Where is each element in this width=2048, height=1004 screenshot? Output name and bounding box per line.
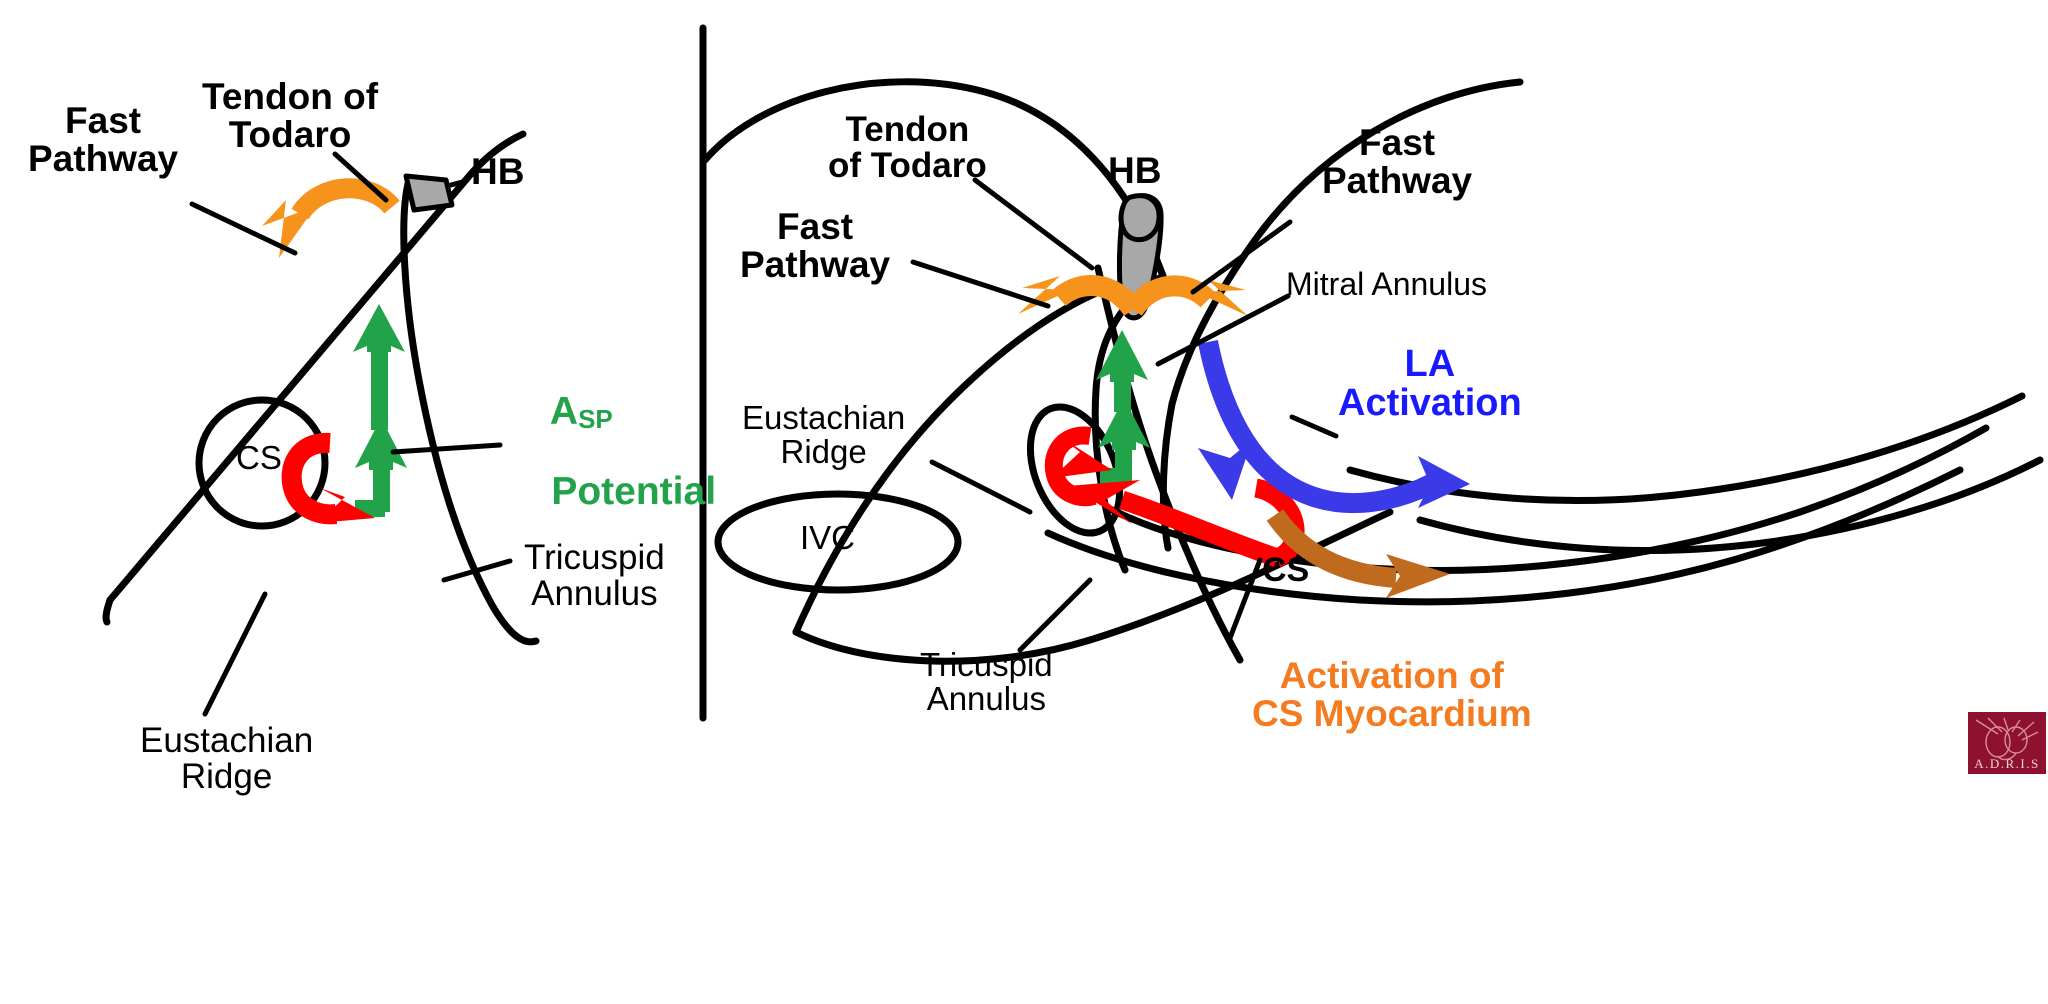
left-green-arrow-upper — [353, 304, 405, 430]
right-leader-eustachian-ridge — [932, 462, 1030, 512]
right-leader-fast-pathway-left — [913, 262, 1048, 306]
left-label-asp-potential: ASP Potential — [508, 352, 716, 552]
right-label-cs: CS — [1262, 553, 1309, 588]
adris-logo: A.D.R.I.S — [1968, 712, 2046, 774]
left-eustachian-ridge-curve — [106, 600, 110, 622]
right-label-tendon-of-todaro: Tendonof Todaro — [828, 112, 987, 183]
left-label-cs: CS — [236, 441, 282, 475]
left-leader-eustachian — [205, 594, 265, 714]
left-label-tricuspid-annulus: TricuspidAnnulus — [524, 540, 665, 611]
right-leader-la-activation — [1292, 417, 1336, 436]
figure-canvas: .ink{fill:none;stroke:#000;stroke-width:… — [0, 0, 2048, 1004]
right-label-fast-pathway-left: FastPathway — [740, 208, 890, 283]
right-label-mitral-annulus: Mitral Annulus — [1286, 268, 1487, 301]
left-label-asp-subscript: SP — [578, 404, 613, 434]
right-label-activation-cs-myocardium: Activation ofCS Myocardium — [1252, 657, 1532, 732]
right-leader-fast-pathway-right — [1193, 222, 1290, 292]
right-label-la-activation: LAActivation — [1338, 345, 1522, 423]
right-leader-tendon-todaro — [975, 180, 1092, 268]
left-leader-asp — [393, 445, 500, 452]
left-green-arrow-lower — [355, 418, 407, 517]
left-label-eustachian-ridge: EustachianRidge — [140, 723, 313, 794]
right-label-ivc: IVC — [800, 521, 855, 555]
left-label-asp-main: A — [550, 390, 578, 433]
right-leader-activation-cs — [1230, 560, 1260, 638]
adris-logo-mark — [1968, 712, 2046, 774]
left-label-tendon-of-todaro: Tendon ofTodaro — [202, 78, 378, 153]
right-green-arrow-lower — [1098, 398, 1150, 485]
right-label-eustachian-ridge: EustachianRidge — [742, 401, 905, 468]
left-hb-shape — [406, 176, 452, 210]
left-label-asp-second-line: Potential — [551, 470, 716, 513]
right-leader-mitral-annulus — [1158, 296, 1288, 364]
right-label-hb: HB — [1108, 152, 1161, 190]
right-label-fast-pathway-right: FastPathway — [1322, 124, 1472, 199]
right-label-tricuspid-annulus: TricuspidAnnulus — [920, 648, 1053, 715]
left-label-hb: HB — [471, 153, 524, 191]
left-label-fast-pathway: FastPathway — [28, 102, 178, 177]
